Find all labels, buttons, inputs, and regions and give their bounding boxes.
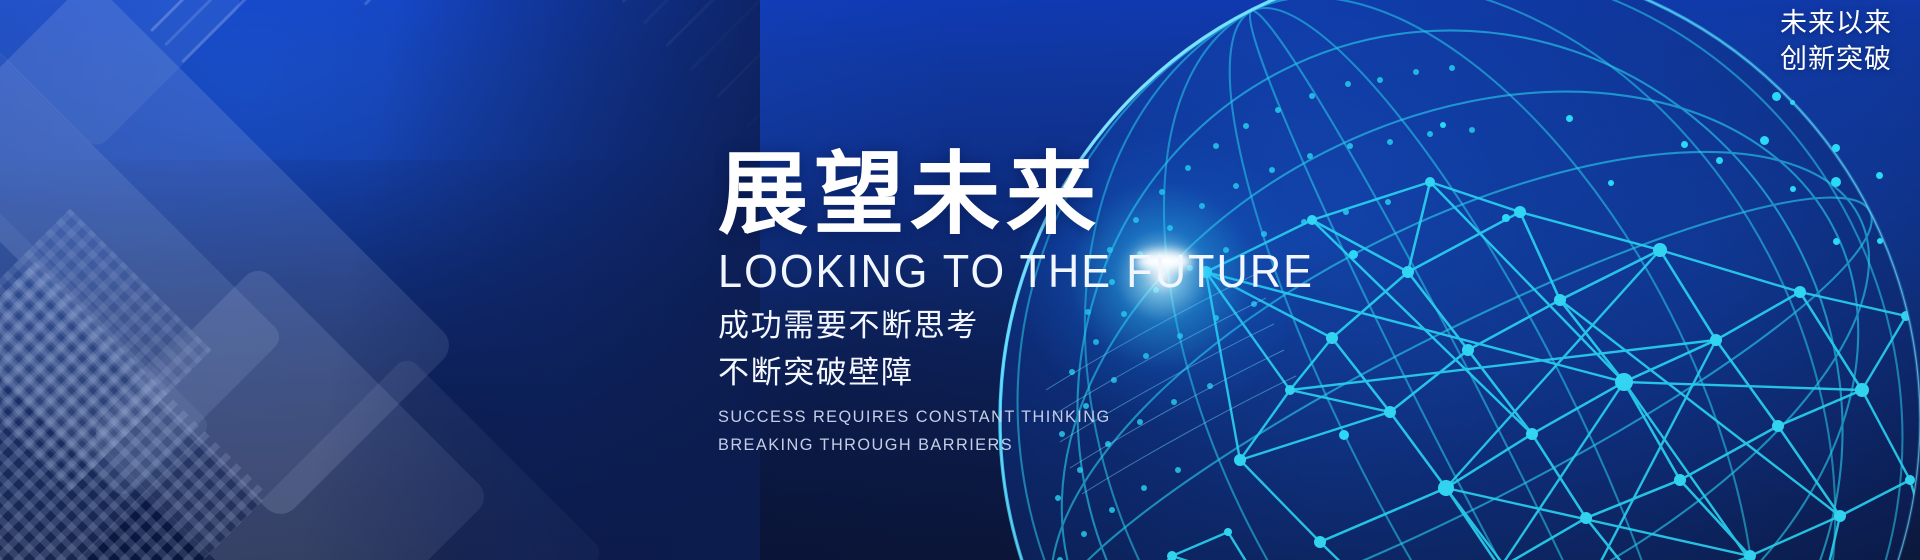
- particle-dot: [1833, 238, 1840, 245]
- corner-slogan-line-2: 创新突破: [1780, 42, 1892, 78]
- particle-dot: [1790, 100, 1795, 105]
- particle-dot: [1716, 157, 1723, 164]
- tagline-cn-line-2: 不断突破壁障: [718, 353, 1418, 393]
- particle-dot: [1440, 122, 1446, 128]
- particle-dot: [1790, 186, 1796, 192]
- hero-banner: 未来以来 创新突破 展望未来 LOOKING TO THE FUTURE 成功需…: [0, 0, 1920, 560]
- left-geometric-pattern: [0, 0, 760, 560]
- tagline-en-line-1: SUCCESS REQUIRES CONSTANT THINKING: [718, 404, 1390, 430]
- tagline-en-line-2: BREAKING THROUGH BARRIERS: [718, 432, 1390, 458]
- tagline-cn-line-1: 成功需要不断思考: [718, 306, 1418, 346]
- particle-dot: [1772, 92, 1781, 101]
- particle-dot: [1876, 172, 1883, 179]
- particle-dot: [1608, 180, 1614, 186]
- particle-dot: [1877, 238, 1883, 244]
- particle-dot: [1832, 144, 1840, 152]
- particle-dot: [1566, 115, 1573, 122]
- hero-copy-block: 展望未来 LOOKING TO THE FUTURE 成功需要不断思考 不断突破…: [718, 150, 1418, 458]
- particle-dot: [1831, 177, 1841, 187]
- particle-dot: [1760, 136, 1769, 145]
- corner-slogan: 未来以来 创新突破: [1780, 6, 1892, 77]
- particle-dot: [1681, 141, 1688, 148]
- particle-dot: [1502, 214, 1510, 222]
- corner-slogan-line-1: 未来以来: [1780, 6, 1892, 42]
- left-pattern-fade: [0, 0, 760, 560]
- page-subtitle-english: LOOKING TO THE FUTURE: [718, 246, 1376, 298]
- page-title: 展望未来: [718, 150, 1418, 240]
